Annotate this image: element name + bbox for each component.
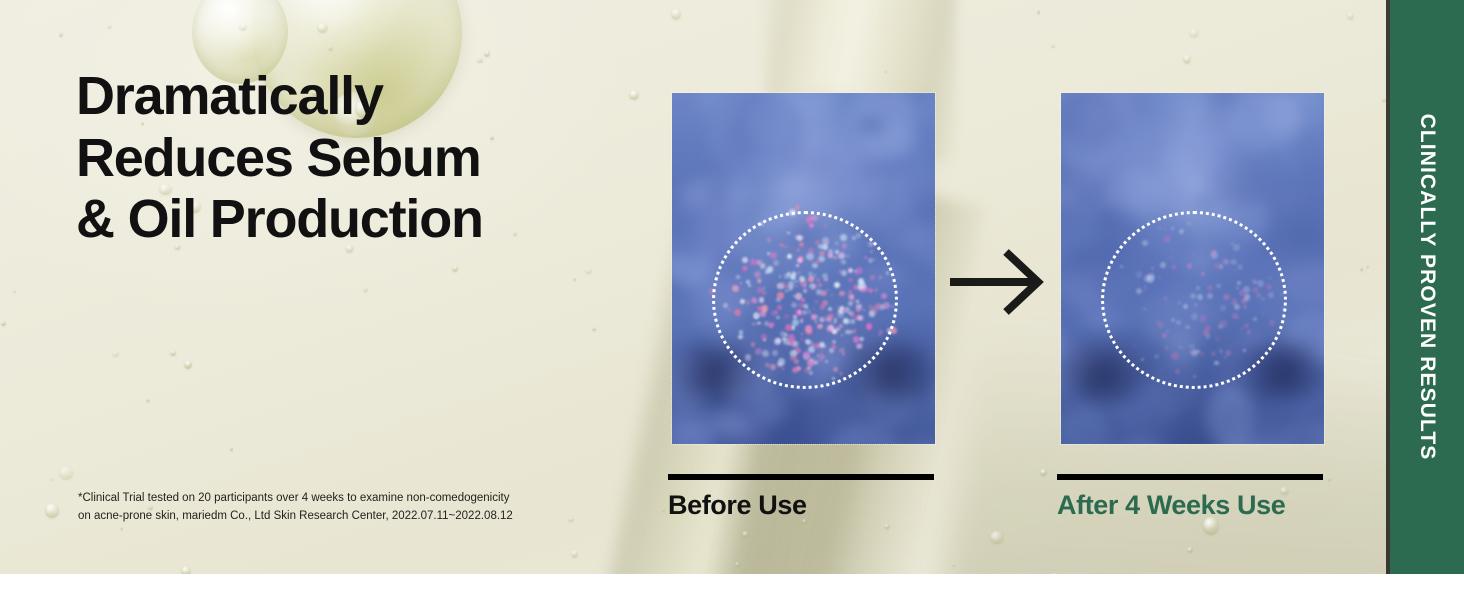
bubble <box>1189 28 1199 38</box>
bubble <box>452 265 459 272</box>
after-caption-rule <box>1057 474 1323 480</box>
bubble <box>477 58 483 63</box>
bubble <box>239 23 247 31</box>
clinically-proven-sidebar: CLINICALLY PROVEN RESULTS <box>1390 0 1464 574</box>
bubble <box>112 351 119 357</box>
bubble <box>328 45 333 51</box>
before-caption-rule <box>668 474 934 480</box>
measurement-circle-before <box>712 211 898 389</box>
bubble <box>671 8 681 20</box>
after-caption: After 4 Weeks Use <box>1057 490 1285 521</box>
bubble <box>735 562 740 567</box>
after-panel: After 4 Weeks Use <box>1060 92 1325 445</box>
measurement-circle-after <box>1101 211 1287 389</box>
after-photo <box>1060 92 1325 445</box>
bubble <box>1187 547 1193 553</box>
clinical-results-banner: Dramatically Reduces Sebum & Oil Product… <box>0 0 1464 600</box>
sidebar-label: CLINICALLY PROVEN RESULTS <box>1415 114 1439 461</box>
bubble <box>952 563 955 566</box>
bubble <box>317 23 328 33</box>
right-arrow-icon <box>948 246 1044 318</box>
before-panel: Before Use <box>671 92 936 445</box>
bubble <box>1040 469 1047 476</box>
bubble <box>884 524 890 530</box>
sebum-speck <box>795 205 800 210</box>
before-photo <box>671 92 936 445</box>
bubble <box>990 531 1004 544</box>
bubble <box>59 32 63 36</box>
bubble <box>1 321 6 326</box>
bubble <box>592 327 596 332</box>
bubble <box>1360 267 1363 271</box>
bubble <box>1183 54 1191 64</box>
page-title: Dramatically Reduces Sebum & Oil Product… <box>76 66 696 251</box>
before-caption: Before Use <box>668 490 807 521</box>
bubble <box>181 566 190 574</box>
bubble <box>170 350 176 356</box>
clinical-trial-footnote: *Clinical Trial tested on 20 participant… <box>78 490 623 526</box>
